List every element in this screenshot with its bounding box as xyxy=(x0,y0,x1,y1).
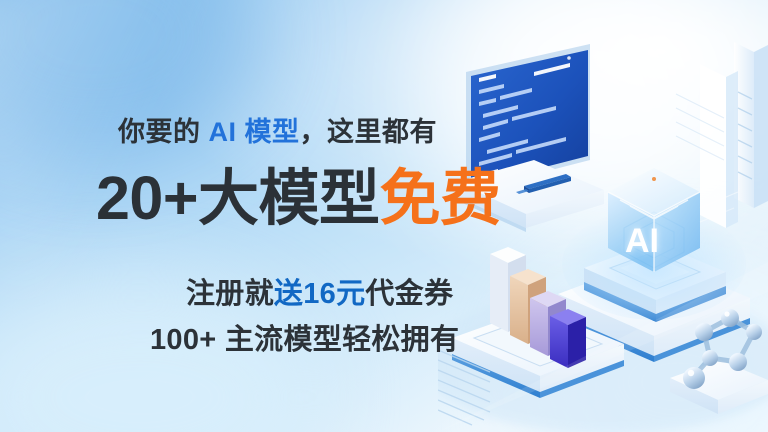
headline-line-4: 100+ 主流模型轻松拥有 xyxy=(150,316,459,358)
promo-banner: AI AI xyxy=(0,0,768,432)
headline-line-3: 注册就送16元代金券 xyxy=(186,270,453,312)
headline-1-accent: AI 模型 xyxy=(209,117,300,147)
isometric-ai-illustration: AI AI xyxy=(438,32,768,432)
headline-1-suffix: ，这里都有 xyxy=(300,117,438,147)
headline-2-highlight: 免费 xyxy=(379,164,500,232)
headline-3-accent: 送16元 xyxy=(274,278,365,310)
svg-text:AI: AI xyxy=(625,222,659,260)
headline-3-prefix: 注册就 xyxy=(186,278,274,310)
ai-cube-label: AI AI xyxy=(625,222,659,260)
headline-1-prefix: 你要的 xyxy=(118,117,209,147)
banner-copy: 你要的 AI 模型，这里都有 20+大模型免费 注册就送16元代金券 100+ … xyxy=(0,0,500,432)
headline-2-main: 20+大模型 xyxy=(96,164,379,232)
headline-3-suffix: 代金券 xyxy=(365,278,453,310)
headline-line-2: 20+大模型免费 xyxy=(96,168,501,229)
headline-line-1: 你要的 AI 模型，这里都有 xyxy=(118,110,437,149)
